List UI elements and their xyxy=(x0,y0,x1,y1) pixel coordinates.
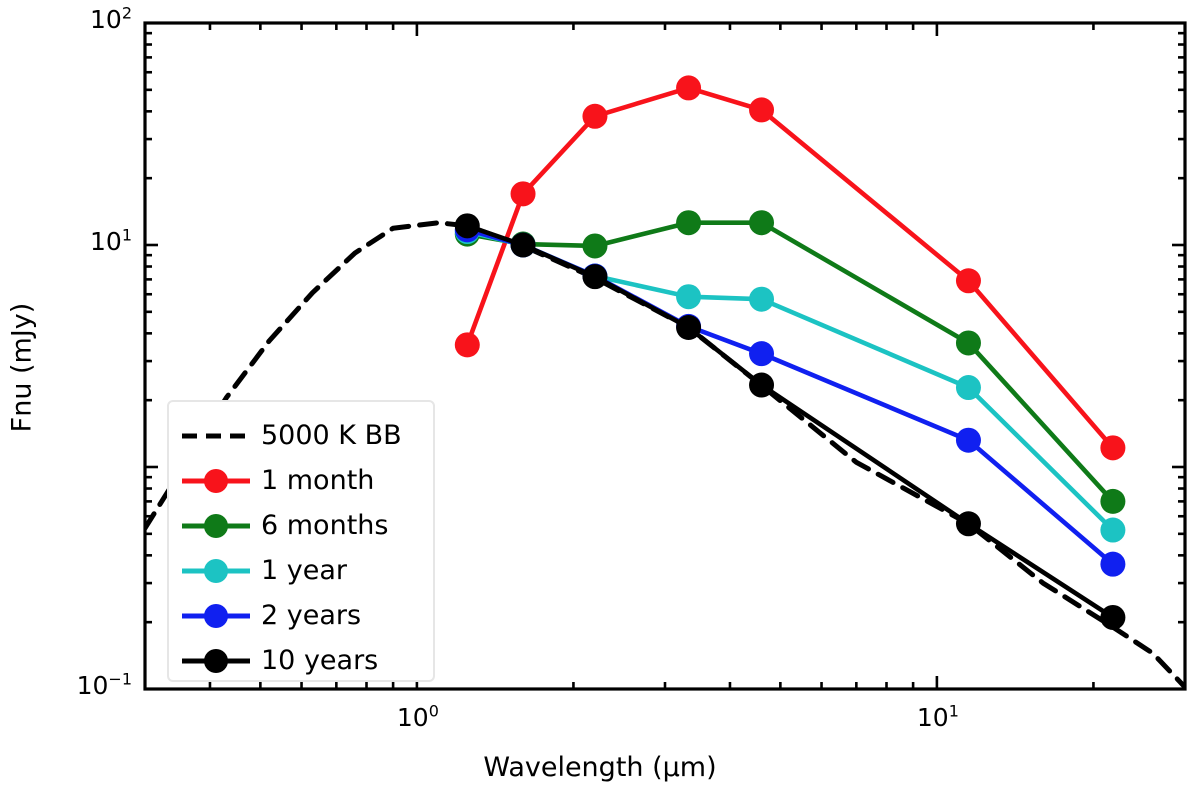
legend-swatch-icon xyxy=(180,547,252,594)
y-axis-label: Fnu (mJy) xyxy=(7,258,38,478)
data-point-1-month xyxy=(749,97,774,122)
data-point-6-months xyxy=(749,210,774,235)
data-point-10-years xyxy=(1100,605,1125,630)
legend-swatch-icon xyxy=(180,637,252,684)
x-axis-label: Wavelength (µm) xyxy=(0,752,1200,783)
legend-label: 5000 K BB xyxy=(261,420,402,451)
figure-canvas: Wavelength (µm) Fnu (mJy) 10010110210110… xyxy=(0,0,1200,804)
data-point-10-years xyxy=(956,511,981,536)
data-point-6-months xyxy=(582,233,607,258)
legend-box[interactable]: 5000 K BB1 month6 months1 year2 years10 … xyxy=(167,400,435,682)
data-point-1-month xyxy=(582,104,607,129)
data-point-1-month xyxy=(1100,435,1125,460)
data-point-6-months xyxy=(676,210,701,235)
y-tick-label-2: 10−1 xyxy=(32,671,132,700)
legend-item-10-years[interactable]: 10 years xyxy=(169,637,437,684)
legend-label: 2 years xyxy=(261,600,361,631)
data-point-1-month xyxy=(956,268,981,293)
legend-item-6-months[interactable]: 6 months xyxy=(169,502,437,549)
data-point-1-year xyxy=(1100,518,1125,543)
data-point-1-year xyxy=(676,284,701,309)
data-point-10-years xyxy=(749,373,774,398)
data-point-10-years xyxy=(455,213,480,238)
legend-item-5000-k-bb[interactable]: 5000 K BB xyxy=(169,412,437,459)
legend-swatch-icon xyxy=(180,457,252,504)
legend-label: 6 months xyxy=(261,510,388,541)
data-point-1-year xyxy=(749,287,774,312)
x-tick-label-0: 100 xyxy=(383,703,453,732)
data-point-2-years xyxy=(956,428,981,453)
legend-swatch-icon xyxy=(180,412,252,459)
data-point-2-years xyxy=(749,341,774,366)
legend-label: 10 years xyxy=(261,645,378,676)
data-point-10-years xyxy=(511,233,536,258)
data-point-1-month xyxy=(511,181,536,206)
y-tick-label-1: 101 xyxy=(32,227,132,256)
y-tick-label-0: 102 xyxy=(32,5,132,34)
legend-item-1-month[interactable]: 1 month xyxy=(169,457,437,504)
data-point-6-months xyxy=(956,330,981,355)
data-point-1-month xyxy=(676,75,701,100)
x-tick-label-1: 101 xyxy=(903,703,973,732)
series-line-10-years xyxy=(467,226,1113,618)
legend-label: 1 month xyxy=(261,465,374,496)
legend-item-2-years[interactable]: 2 years xyxy=(169,592,437,639)
legend-label: 1 year xyxy=(261,555,347,586)
data-point-10-years xyxy=(582,264,607,289)
data-point-2-years xyxy=(1100,552,1125,577)
legend-item-1-year[interactable]: 1 year xyxy=(169,547,437,594)
series-line-1-year xyxy=(467,232,1113,531)
data-point-1-year xyxy=(956,375,981,400)
legend-swatch-icon xyxy=(180,592,252,639)
data-point-1-month xyxy=(455,332,480,357)
data-point-6-months xyxy=(1100,489,1125,514)
legend-swatch-icon xyxy=(180,502,252,549)
data-point-10-years xyxy=(676,315,701,340)
